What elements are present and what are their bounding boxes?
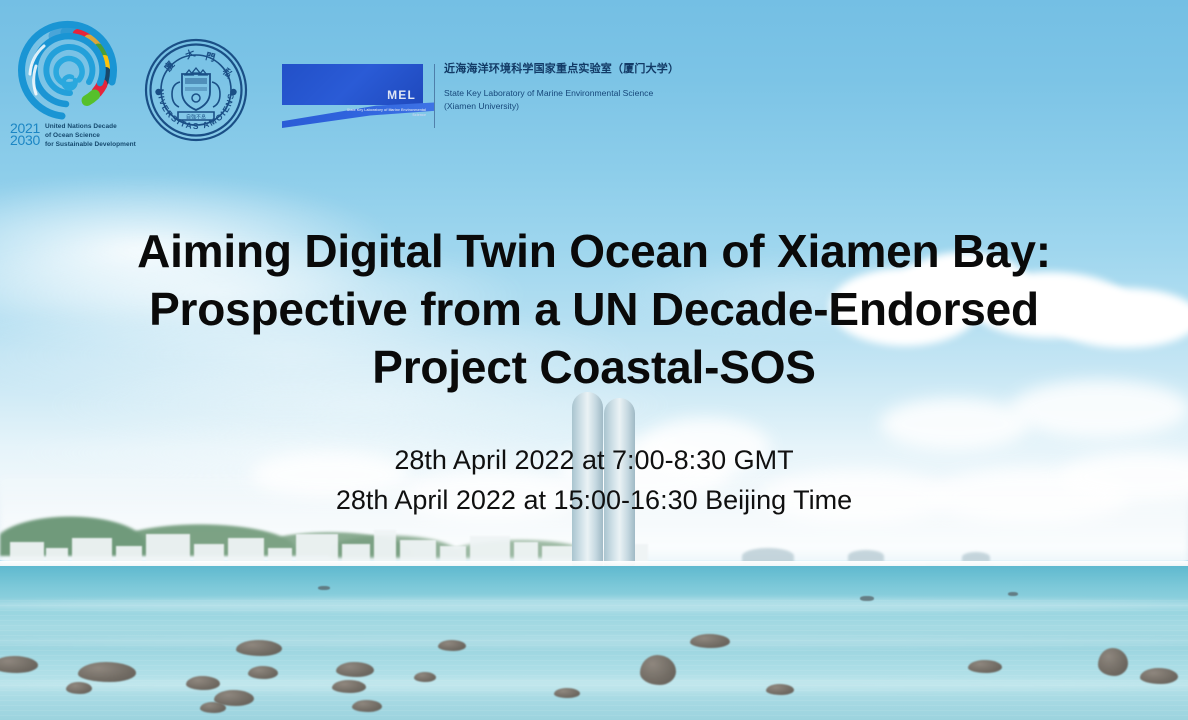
foreground-rock xyxy=(0,656,38,673)
foreground-rock xyxy=(352,700,382,712)
un-decade-caption: 2021 2030 United Nations Decade of Ocean… xyxy=(10,122,136,149)
ocean-decade-wave-icon xyxy=(16,20,124,120)
presentation-slide: 2021 2030 United Nations Decade of Ocean… xyxy=(0,0,1188,720)
small-boat xyxy=(318,586,330,590)
foreground-rock xyxy=(1098,648,1128,676)
title-line: Prospective from a UN Decade-Endorsed xyxy=(70,280,1118,338)
foreground-rock xyxy=(332,680,366,693)
foreground-rock xyxy=(968,660,1002,673)
small-boat xyxy=(1008,592,1018,596)
svg-text:自強不息: 自強不息 xyxy=(186,114,206,121)
foreground-rock xyxy=(414,672,436,682)
foreground-rock xyxy=(248,666,278,679)
mel-name-chinese: 近海海洋环境科学国家重点实验室（厦门大学） xyxy=(444,62,694,76)
foreground-rock xyxy=(690,634,730,648)
title-line: Aiming Digital Twin Ocean of Xiamen Bay: xyxy=(70,222,1118,280)
un-decade-wordmark: United Nations Decade of Ocean Science f… xyxy=(45,122,136,149)
svg-text:門: 門 xyxy=(204,51,216,64)
svg-text:廈: 廈 xyxy=(162,59,178,74)
un-decade-years: 2021 2030 xyxy=(10,122,40,146)
mel-lab-logo: MEL State Key Laboratory of Marine Envir… xyxy=(282,62,692,134)
foreground-rock xyxy=(66,682,92,694)
mel-mark-subtext: State Key Laboratory of Marine Environme… xyxy=(340,108,426,118)
foreground-rock xyxy=(554,688,580,698)
foreground-rock xyxy=(766,684,794,695)
logo-bar: 2021 2030 United Nations Decade of Ocean… xyxy=(0,0,1188,170)
logo-divider xyxy=(434,64,435,128)
foreground-rock xyxy=(78,662,136,682)
date-line-gmt: 28th April 2022 at 7:00-8:30 GMT xyxy=(0,440,1188,480)
foreground-rock xyxy=(640,655,676,685)
water-ripples xyxy=(0,600,1188,720)
mel-logo-mark: MEL State Key Laboratory of Marine Envir… xyxy=(282,62,432,130)
foreground-rock xyxy=(186,676,220,690)
small-boat xyxy=(860,596,874,601)
xiamen-university-seal: 廈 大 門 私 xyxy=(142,34,250,144)
page-title: Aiming Digital Twin Ocean of Xiamen Bay:… xyxy=(0,222,1188,396)
mel-logo-box: MEL xyxy=(282,64,423,105)
title-line: Project Coastal-SOS xyxy=(70,338,1118,396)
date-line-beijing: 28th April 2022 at 15:00-16:30 Beijing T… xyxy=(0,480,1188,520)
mel-wordmark: MEL xyxy=(387,88,416,102)
mel-name-english: State Key Laboratory of Marine Environme… xyxy=(444,87,694,113)
mel-lab-name: 近海海洋环境科学国家重点实验室（厦门大学） State Key Laborato… xyxy=(444,62,694,113)
foreground-rock xyxy=(236,640,282,656)
foreground-rock xyxy=(200,702,226,713)
un-ocean-decade-logo: 2021 2030 United Nations Decade of Ocean… xyxy=(8,20,138,160)
foreground-rock xyxy=(438,640,466,651)
foreground-rock xyxy=(336,662,374,677)
svg-text:私: 私 xyxy=(219,65,235,81)
slide-content: Aiming Digital Twin Ocean of Xiamen Bay:… xyxy=(0,222,1188,520)
event-datetime: 28th April 2022 at 7:00-8:30 GMT 28th Ap… xyxy=(0,440,1188,520)
foreground-rock xyxy=(1140,668,1178,684)
svg-text:大: 大 xyxy=(184,47,198,62)
